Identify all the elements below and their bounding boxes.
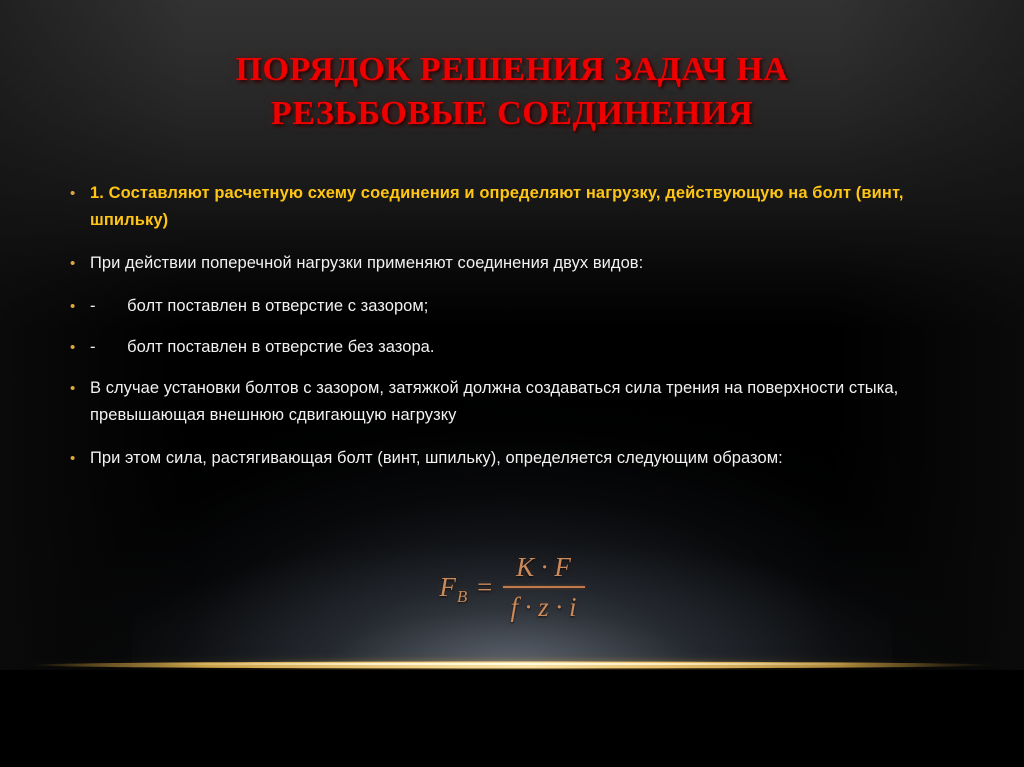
list-item-label: В случае установки болтов с зазором, зат… [90, 375, 938, 429]
formula-subscript-v: В [457, 587, 467, 607]
list-item: При этом сила, растягивающая болт (винт,… [0, 445, 1024, 472]
bullet-marker-icon [70, 259, 90, 268]
page-title: Порядок решения задач на резьбовые соеди… [112, 48, 912, 136]
list-item-label: - болт поставлен в отверстие без зазора. [90, 334, 938, 361]
bullet-marker-icon [70, 343, 90, 352]
list-item-label: 1. Составляют расчетную схему соединения… [90, 180, 938, 234]
formula-numerator: K · F [508, 552, 579, 586]
list-item-label: При этом сила, растягивающая болт (винт,… [90, 445, 938, 472]
bullet-marker-icon [70, 384, 90, 393]
bullet-marker-icon [70, 302, 90, 311]
list-item: - болт поставлен в отверстие с зазором; [0, 293, 1024, 320]
list-item: 1. Составляют расчетную схему соединения… [0, 180, 1024, 234]
formula-equals-sign: = [475, 572, 493, 603]
formula-fraction: K · F f · z · i [503, 552, 585, 623]
formula-block: FВ = K · F f · z · i [0, 552, 1024, 623]
presentation-slide: Порядок решения задач на резьбовые соеди… [0, 0, 1024, 767]
formula-symbol-f: F [439, 572, 456, 603]
formula-equation: FВ = K · F f · z · i [439, 552, 584, 623]
list-item: При действии поперечной нагрузки применя… [0, 250, 1024, 277]
list-item-label: При действии поперечной нагрузки применя… [90, 250, 938, 277]
list-item-label: - болт поставлен в отверстие с зазором; [90, 293, 938, 320]
list-item: - болт поставлен в отверстие без зазора. [0, 334, 1024, 361]
bullet-list: 1. Составляют расчетную схему соединения… [0, 180, 1024, 488]
formula-denominator: f · z · i [503, 588, 585, 623]
slide-content: Порядок решения задач на резьбовые соеди… [0, 0, 1024, 767]
list-item: В случае установки болтов с зазором, зат… [0, 375, 1024, 429]
formula-left-hand-side: FВ [439, 572, 466, 603]
bullet-marker-icon [70, 454, 90, 463]
bullet-marker-icon [70, 189, 90, 198]
